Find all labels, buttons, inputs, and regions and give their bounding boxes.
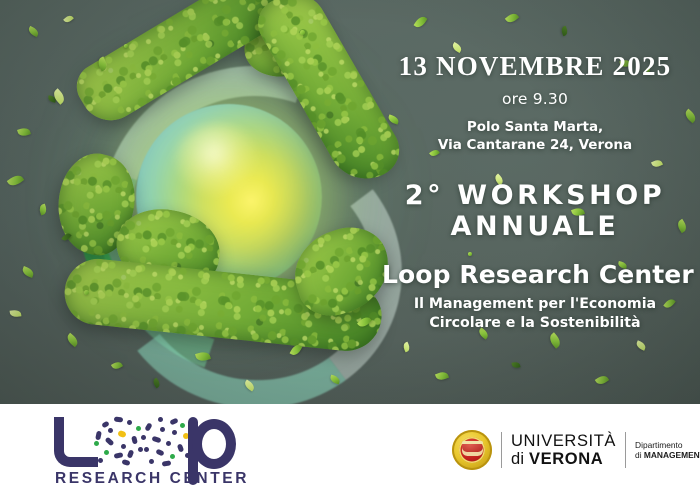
event-subtitle: Il Management per l'Economia Circolare e… [382,295,688,332]
department-name: Dipartimento di MANAGEMENT [635,440,700,461]
verona-crest-icon [452,430,492,470]
department-label-bottom: di MANAGEMENT [635,450,700,461]
sphere-highlight [176,124,260,194]
university-of-verona-lockup: UNIVERSITÀ di VERONA Dipartimento di MAN… [452,428,700,472]
loop-research-center-logo: RESEARCH CENTER [52,415,252,487]
department-management: MANAGEMENT [644,450,700,460]
organizer-name: Loop Research Center [382,261,688,289]
department-label-top: Dipartimento [635,440,700,451]
workshop-title-line-2: ANNUALE [451,211,620,242]
subtitle-line-2: Circolare e la Sostenibilità [429,315,640,331]
loop-wordmark: RESEARCH CENTER [52,470,252,488]
venue-line-1: Polo Santa Marta, [467,119,603,135]
footer-logo-bar: RESEARCH CENTER UNIVERSITÀ di VERONA Dip… [0,404,700,497]
event-date: 13 NOVEMBRE 2025 [382,52,688,80]
event-text-panel: 13 NOVEMBRE 2025 ore 9.30 Polo Santa Mar… [382,52,688,332]
loop-letter-o-first-icon [94,417,144,467]
subtitle-line-1: Il Management per l'Economia [414,296,656,312]
logo-divider-2 [625,432,626,468]
event-poster: 13 NOVEMBRE 2025 ore 9.30 Polo Santa Mar… [0,0,700,497]
event-venue: Polo Santa Marta, Via Cantarane 24, Vero… [382,119,688,154]
event-time: ore 9.30 [382,90,688,108]
loop-letter-o-second-icon [140,417,190,467]
department-di: di [635,450,642,460]
university-name: UNIVERSITÀ di VERONA [511,433,616,468]
university-name-bottom: di VERONA [511,451,616,468]
university-name-di: di [511,450,524,468]
university-name-top: UNIVERSITÀ [511,433,616,450]
venue-line-2: Via Cantarane 24, Verona [438,137,632,153]
logo-divider-1 [501,432,502,468]
workshop-title: 2° WORKSHOP ANNUALE [382,180,688,243]
loop-letter-l-icon [54,417,98,467]
university-name-verona: VERONA [529,450,603,468]
workshop-title-line-1: 2° WORKSHOP [405,180,666,211]
